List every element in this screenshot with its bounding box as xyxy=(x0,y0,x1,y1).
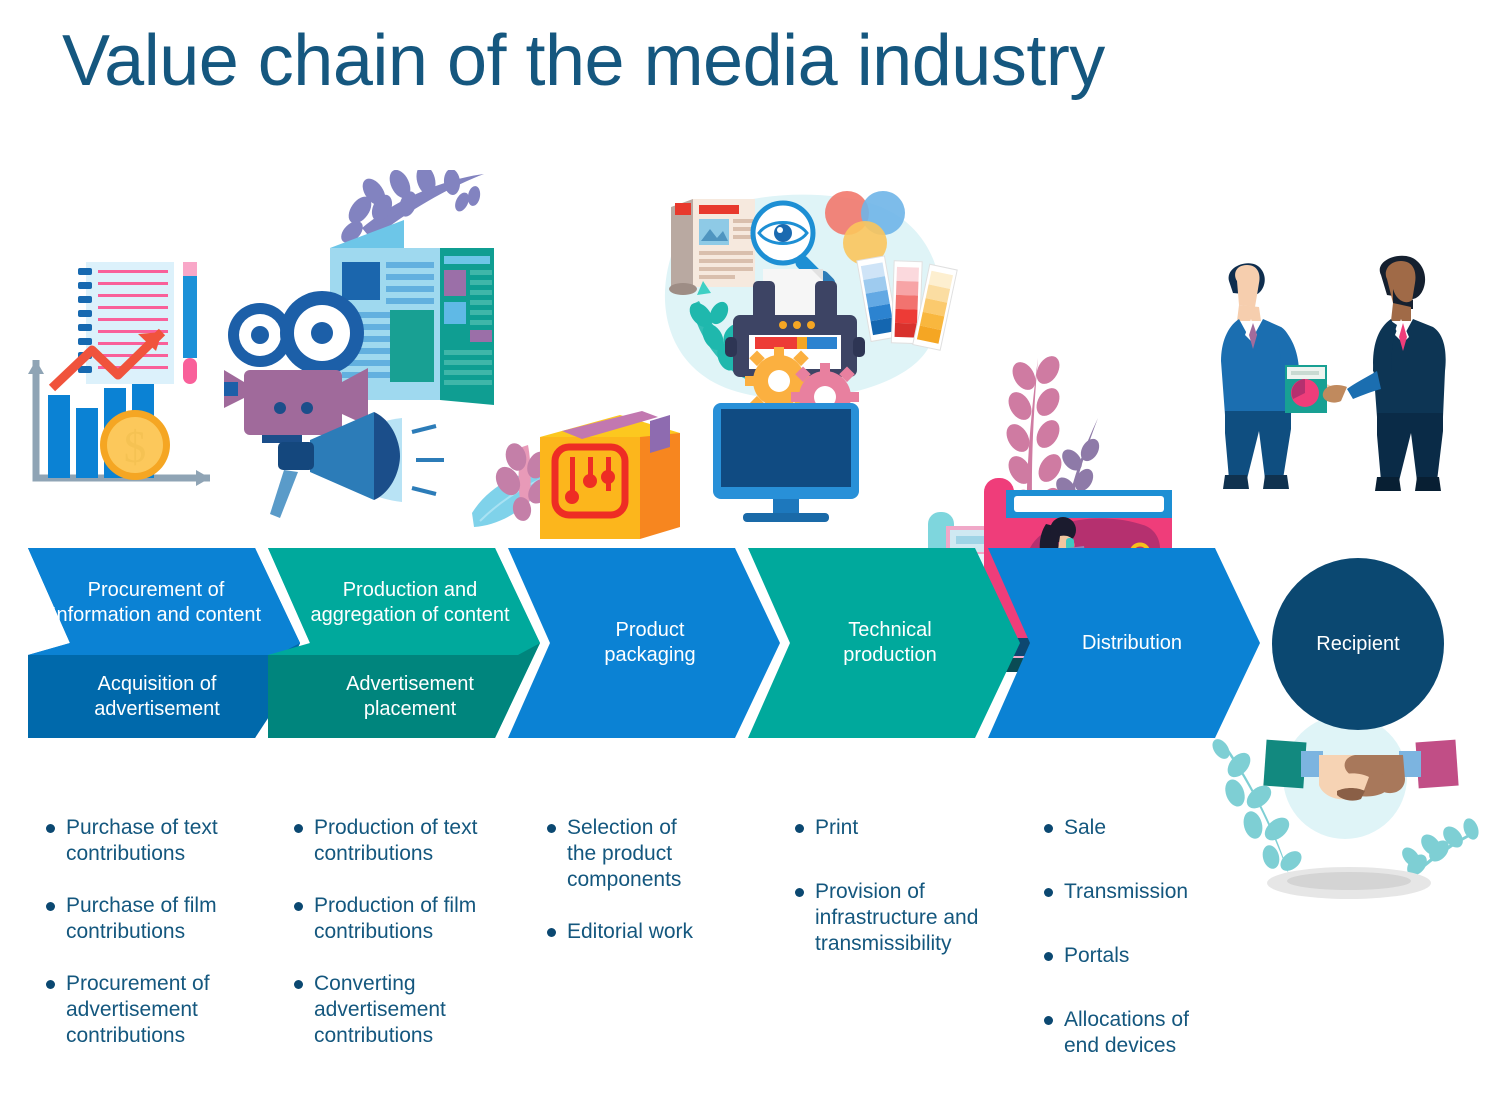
leaf-branch-icon xyxy=(337,170,484,247)
bullet-column-distribution: Sale Transmission Portals Allocations of… xyxy=(1042,815,1242,1085)
page-title: Value chain of the media industry xyxy=(62,20,1105,102)
list-item: Production of film contributions xyxy=(292,893,517,945)
businessman-icon xyxy=(1221,263,1335,489)
stage-production-aggregation[interactable] xyxy=(268,548,540,738)
film-camera-icon xyxy=(224,291,368,443)
list-item: Print xyxy=(793,815,1008,841)
list-item: Converting advertisement contributions xyxy=(292,971,517,1049)
pen-icon xyxy=(183,262,197,384)
stage-product-packaging[interactable] xyxy=(508,548,780,738)
illustration-print-production xyxy=(655,185,965,530)
stage-procurement[interactable] xyxy=(28,548,300,738)
list-item: Selection of the product components xyxy=(545,815,745,893)
svg-text:$: $ xyxy=(124,422,147,472)
bullet-column-product-packaging: Selection of the product components Edit… xyxy=(545,815,745,971)
list-item: Procurement of advertisement contributio… xyxy=(44,971,269,1049)
list-item: Provision of infrastructure and transmis… xyxy=(793,879,1008,957)
businessman-beard-icon xyxy=(1323,256,1446,491)
list-item: Portals xyxy=(1042,943,1242,969)
stage-technical-production[interactable] xyxy=(748,548,1020,738)
infographic-page: Value chain of the media industry xyxy=(0,0,1500,1100)
monitor-icon xyxy=(713,403,859,522)
stage-distribution[interactable] xyxy=(988,548,1260,738)
illustration-handover xyxy=(1195,245,1475,510)
bullet-column-production: Production of text contributions Product… xyxy=(292,815,517,1075)
list-item: Production of text contributions xyxy=(292,815,517,867)
bullet-column-technical-production: Print Provision of infrastructure and tr… xyxy=(793,815,1008,983)
list-item: Purchase of text contributions xyxy=(44,815,269,867)
magazine-icon xyxy=(1285,365,1327,413)
list-item: Sale xyxy=(1042,815,1242,841)
illustration-band: $ xyxy=(0,140,1500,550)
bullet-column-procurement: Purchase of text contributions Purchase … xyxy=(44,815,269,1075)
recipient-node[interactable]: Recipient xyxy=(1272,558,1444,730)
bullet-columns: Purchase of text contributions Purchase … xyxy=(0,815,1500,1100)
recipient-label: Recipient xyxy=(1316,633,1399,656)
magazine-icon xyxy=(669,199,755,295)
list-item: Purchase of film contributions xyxy=(44,893,269,945)
dollar-coin-icon: $ xyxy=(100,410,170,480)
illustration-market-research: $ xyxy=(20,240,240,490)
list-item: Transmission xyxy=(1042,879,1242,905)
color-swatch-icon xyxy=(857,256,957,350)
list-item: Editorial work xyxy=(545,919,745,945)
list-item: Allocations of end devices xyxy=(1042,1007,1242,1059)
